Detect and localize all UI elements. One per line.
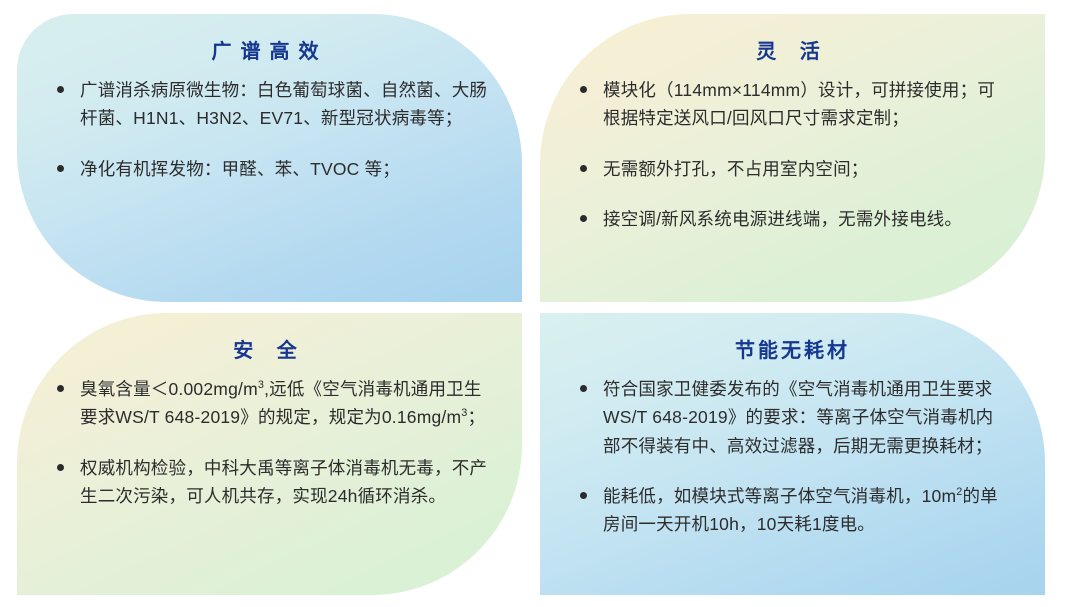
- bullet-text: 模块化（114mm×114mm）设计，可拼接使用；可根据特定送风口/回风口尺寸需…: [603, 76, 1011, 133]
- feature-card-flexibility: 灵 活 模块化（114mm×114mm）设计，可拼接使用；可根据特定送风口/回风…: [540, 14, 1045, 302]
- feature-card-safety: 安 全 臭氧含量＜0.002mg/m3,远低《空气消毒机通用卫生要求WS/T 6…: [17, 313, 522, 595]
- list-item: 广谱消杀病原微生物：白色葡萄球菌、自然菌、大肠杆菌、H1N1、H3N2、EV71…: [57, 76, 488, 133]
- list-item: 无需额外打孔，不占用室内空间；: [580, 155, 1011, 183]
- bullet-text-lead: 能耗低，如模块式等离子体空气消毒机，10m: [603, 486, 956, 506]
- bullet-list-safety: 臭氧含量＜0.002mg/m3,远低《空气消毒机通用卫生要求WS/T 648-2…: [17, 375, 522, 510]
- bullet-text: 能耗低，如模块式等离子体空气消毒机，10m2的单房间一天开机10h，10天耗1度…: [603, 482, 1011, 539]
- bullet-text: 权威机构检验，中科大禹等离子体消毒机无毒，不产生二次污染，可人机共存，实现24h…: [80, 454, 488, 511]
- bullet-text: 臭氧含量＜0.002mg/m3,远低《空气消毒机通用卫生要求WS/T 648-2…: [80, 375, 488, 432]
- list-item: 净化有机挥发物：甲醛、苯、TVOC 等；: [57, 155, 488, 183]
- bullet-dot-icon: [57, 165, 64, 172]
- card-title-safety: 安 全: [17, 313, 522, 367]
- bullet-list-energy-saving-no-consumables: 符合国家卫健委发布的《空气消毒机通用卫生要求WS/T 648-2019》的要求：…: [540, 375, 1045, 539]
- list-item: 接空调/新风系统电源进线端，无需外接电线。: [580, 205, 1011, 233]
- list-item: 权威机构检验，中科大禹等离子体消毒机无毒，不产生二次污染，可人机共存，实现24h…: [57, 454, 488, 511]
- slide-canvas: 广谱高效 广谱消杀病原微生物：白色葡萄球菌、自然菌、大肠杆菌、H1N1、H3N2…: [0, 0, 1080, 607]
- feature-card-energy-saving-no-consumables: 节能无耗材 符合国家卫健委发布的《空气消毒机通用卫生要求WS/T 648-201…: [540, 313, 1045, 595]
- bullet-dot-icon: [580, 165, 587, 172]
- card-title-flexibility: 灵 活: [540, 14, 1045, 68]
- card-title-energy-saving-no-consumables: 节能无耗材: [540, 313, 1045, 367]
- bullet-text-lead: 臭氧含量＜0.002mg/m: [80, 379, 258, 399]
- list-item: 臭氧含量＜0.002mg/m3,远低《空气消毒机通用卫生要求WS/T 648-2…: [57, 375, 488, 432]
- card-title-broad-spectrum-efficiency: 广谱高效: [17, 14, 522, 68]
- bullet-dot-icon: [57, 464, 64, 471]
- bullet-dot-icon: [580, 492, 587, 499]
- list-item: 模块化（114mm×114mm）设计，可拼接使用；可根据特定送风口/回风口尺寸需…: [580, 76, 1011, 133]
- bullet-dot-icon: [580, 385, 587, 392]
- bullet-list-flexibility: 模块化（114mm×114mm）设计，可拼接使用；可根据特定送风口/回风口尺寸需…: [540, 76, 1045, 233]
- bullet-list-broad-spectrum-efficiency: 广谱消杀病原微生物：白色葡萄球菌、自然菌、大肠杆菌、H1N1、H3N2、EV71…: [17, 76, 522, 183]
- bullet-text: 广谱消杀病原微生物：白色葡萄球菌、自然菌、大肠杆菌、H1N1、H3N2、EV71…: [80, 76, 488, 133]
- bullet-text: 符合国家卫健委发布的《空气消毒机通用卫生要求WS/T 648-2019》的要求：…: [603, 375, 1011, 460]
- bullet-dot-icon: [57, 385, 64, 392]
- bullet-dot-icon: [580, 86, 587, 93]
- bullet-text-tail-2: ；: [468, 407, 486, 427]
- bullet-text: 接空调/新风系统电源进线端，无需外接电线。: [603, 205, 1011, 233]
- feature-card-broad-spectrum-efficiency: 广谱高效 广谱消杀病原微生物：白色葡萄球菌、自然菌、大肠杆菌、H1N1、H3N2…: [17, 14, 522, 302]
- list-item: 符合国家卫健委发布的《空气消毒机通用卫生要求WS/T 648-2019》的要求：…: [580, 375, 1011, 460]
- bullet-dot-icon: [57, 86, 64, 93]
- bullet-dot-icon: [580, 215, 587, 222]
- bullet-text: 净化有机挥发物：甲醛、苯、TVOC 等；: [80, 155, 488, 183]
- bullet-text: 无需额外打孔，不占用室内空间；: [603, 155, 1011, 183]
- list-item: 能耗低，如模块式等离子体空气消毒机，10m2的单房间一天开机10h，10天耗1度…: [580, 482, 1011, 539]
